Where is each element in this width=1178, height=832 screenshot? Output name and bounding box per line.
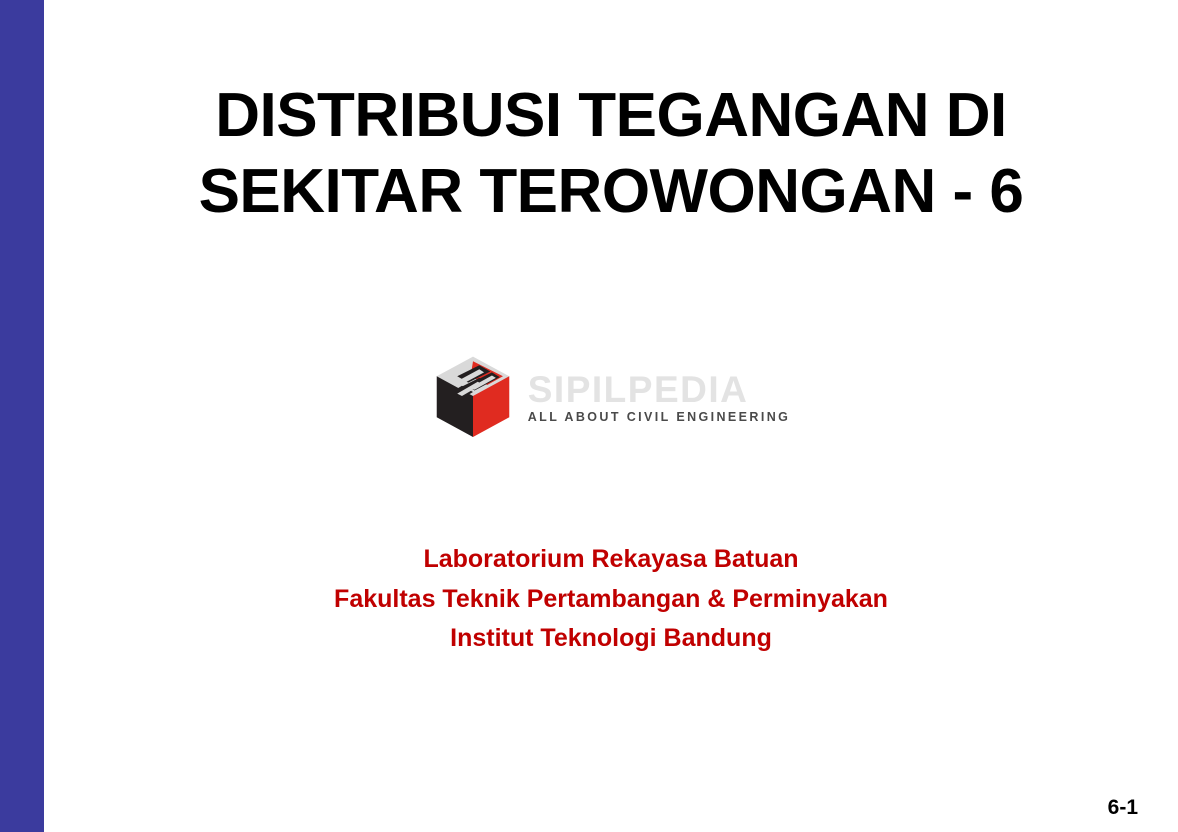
- page-title: DISTRIBUSI TEGANGAN DI SEKITAR TEROWONGA…: [104, 78, 1118, 229]
- page-title-line-2: SEKITAR TEROWONGAN - 6: [104, 154, 1118, 230]
- logo-wordmark: SIPILPEDIA: [528, 371, 791, 409]
- side-banner-label: TA 3111 Mekanika Batuan – Distribusi Teg…: [0, 788, 44, 832]
- sipilpedia-logo: SIPILPEDIA ALL ABOUT CIVIL ENGINEERING: [432, 355, 791, 437]
- cube-logo-icon: [432, 355, 514, 437]
- affiliation-block: Laboratorium Rekayasa Batuan Fakultas Te…: [44, 540, 1178, 659]
- page-number: 6-1: [1108, 797, 1138, 818]
- page-title-line-1: DISTRIBUSI TEGANGAN DI: [104, 78, 1118, 154]
- vertical-side-banner: TA 3111 Mekanika Batuan – Distribusi Teg…: [0, 0, 44, 832]
- affiliation-line-1: Laboratorium Rekayasa Batuan: [44, 540, 1178, 580]
- affiliation-line-2: Fakultas Teknik Pertambangan & Perminyak…: [44, 580, 1178, 620]
- logo-tagline: ALL ABOUT CIVIL ENGINEERING: [528, 411, 791, 425]
- logo-container: SIPILPEDIA ALL ABOUT CIVIL ENGINEERING: [44, 355, 1178, 437]
- logo-text-block: SIPILPEDIA ALL ABOUT CIVIL ENGINEERING: [528, 367, 791, 425]
- affiliation-line-3: Institut Teknologi Bandung: [44, 619, 1178, 659]
- slide-canvas: TA 3111 Mekanika Batuan – Distribusi Teg…: [0, 0, 1178, 832]
- slide-content-area: DISTRIBUSI TEGANGAN DI SEKITAR TEROWONGA…: [44, 0, 1178, 832]
